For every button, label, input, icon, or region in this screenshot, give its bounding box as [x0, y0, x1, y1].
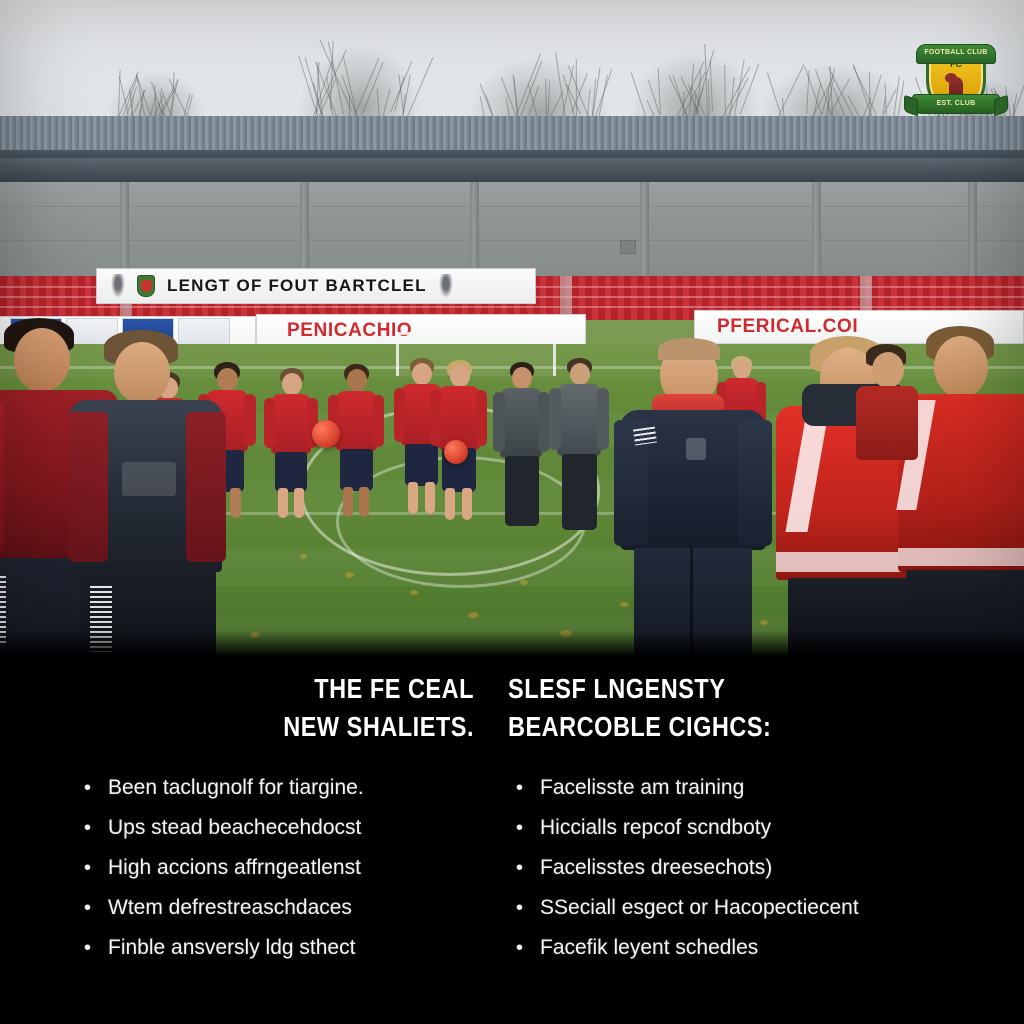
- leaf-speck: [410, 590, 418, 595]
- roof-fascia: [0, 158, 1024, 184]
- leaf-speck: [250, 632, 260, 638]
- twig: [353, 58, 379, 118]
- crest-top-banner: FOOTBALL CLUB: [916, 44, 996, 64]
- stadium-name-banner: LENGT OF FOUT BARTCLEL: [96, 268, 536, 304]
- bib-text-mark: [122, 462, 176, 496]
- staff-figure: [846, 344, 926, 464]
- staff-figure: [548, 358, 608, 534]
- banner-emblem-icon: [439, 274, 453, 298]
- brand-stripes-icon: [0, 576, 6, 646]
- stand-roof: [0, 116, 1024, 152]
- crest-top-text: FOOTBALL CLUB: [917, 49, 995, 56]
- wall-pillar: [120, 182, 129, 278]
- advert-text: PFERICAL.COI: [695, 316, 858, 338]
- staff-figure: [492, 362, 550, 530]
- wall-pillar: [968, 182, 977, 278]
- banner-crest-icon: [137, 275, 155, 297]
- left-headline-line-2: NEW SHALIETS.: [76, 708, 474, 746]
- club-crest-badge: FC FOOTBALL CLUB EST. CLUB: [910, 36, 1002, 128]
- football-icon: [444, 440, 468, 464]
- list-item: Been taclugnolf for tiargine.: [84, 768, 474, 808]
- club-badge-icon: [686, 438, 706, 460]
- list-item: SSeciall esgect or Hacopectiecent: [516, 888, 1024, 928]
- right-headline-line-1: SLESF LNGENSTY: [508, 670, 941, 708]
- text-panel: THE FE CEAL NEW SHALIETS. Been taclugnol…: [0, 656, 1024, 1024]
- crest-scroll-banner: EST. CLUB: [912, 94, 1000, 114]
- stadium-banner-text: LENGT OF FOUT BARTCLEL: [167, 276, 427, 296]
- list-item: High accions affrngeatlenst: [84, 848, 474, 888]
- leaf-speck: [520, 580, 528, 585]
- wall-vent: [620, 240, 636, 254]
- leaf-speck: [468, 612, 479, 618]
- list-item: Facelisste am training: [516, 768, 1024, 808]
- wall-pillar: [470, 182, 479, 278]
- stand-rear-wall: [0, 182, 1024, 278]
- leaf-speck: [300, 554, 307, 559]
- twig: [343, 56, 359, 123]
- left-headline-line-1: THE FE CEAL: [76, 670, 474, 708]
- wall-seam: [0, 206, 1024, 207]
- wall-seam: [0, 240, 1024, 241]
- infographic-card: LENGT OF FOUT BARTCLEL PENICACHIO PFERIC…: [0, 0, 1024, 1024]
- staff-foreground-figure: [70, 330, 226, 656]
- right-column: SLESF LNGENSTY BEARCOBLE CIGHCS: Facelis…: [496, 656, 1024, 1024]
- banner-emblem-icon: [111, 274, 125, 298]
- twig: [710, 61, 713, 111]
- wall-pillar: [812, 182, 821, 278]
- right-headline-line-2: BEARCOBLE CIGHCS:: [508, 708, 941, 746]
- advert-text: PENICACHIO: [257, 320, 412, 342]
- twig: [658, 68, 661, 115]
- player-figure: [262, 368, 320, 520]
- leaf-speck: [560, 630, 572, 637]
- football-icon: [312, 420, 340, 448]
- wall-pillar: [640, 182, 649, 278]
- list-item: Facefik leyent schedles: [516, 928, 1024, 968]
- list-item: Hiccialls repcof scndboty: [516, 808, 1024, 848]
- list-item: Finble ansversly ldg sthect: [84, 928, 474, 968]
- list-item: Facelisstes dreesechots): [516, 848, 1024, 888]
- left-column: THE FE CEAL NEW SHALIETS. Been taclugnol…: [0, 656, 496, 1024]
- twig: [631, 72, 647, 119]
- crest-scroll-text: EST. CLUB: [913, 100, 999, 107]
- left-bullet-list: Been taclugnolf for tiargine. Ups stead …: [84, 768, 474, 968]
- right-bullet-list: Facelisste am training Hiccialls repcof …: [516, 768, 1024, 968]
- brand-stripes-icon: [90, 586, 112, 652]
- training-photo: LENGT OF FOUT BARTCLEL PENICACHIO PFERIC…: [0, 0, 1024, 656]
- brand-stripes-icon: [633, 427, 657, 446]
- twig: [724, 65, 726, 121]
- list-item: Wtem defrestreaschdaces: [84, 888, 474, 928]
- jacket-stripe: [898, 548, 1024, 566]
- twig: [852, 67, 876, 116]
- head-coach-figure: [608, 336, 778, 656]
- wall-pillar: [300, 182, 309, 278]
- twig: [893, 76, 900, 119]
- leaf-speck: [345, 572, 354, 578]
- list-item: Ups stead beachecehdocst: [84, 808, 474, 848]
